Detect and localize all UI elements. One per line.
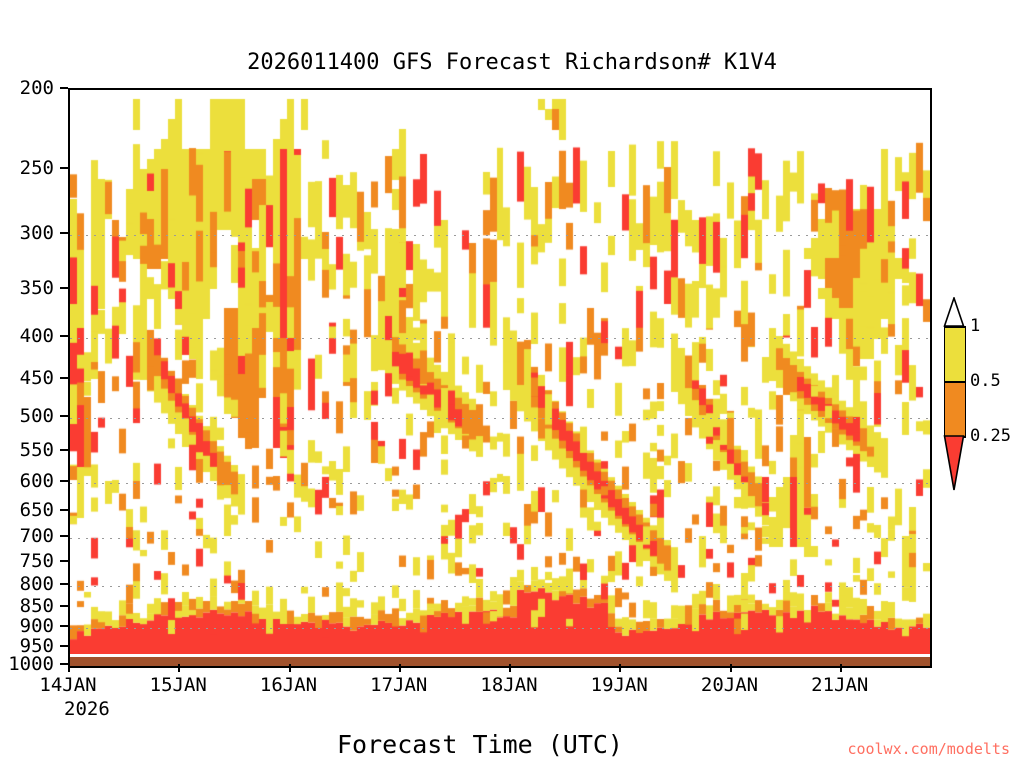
y-tick-mark-500	[60, 415, 68, 417]
y-tick-label-350: 350	[0, 277, 54, 299]
y-tick-label-250: 250	[0, 157, 54, 179]
x-tick-label-20JAN: 20JAN	[685, 674, 775, 696]
x-tick-label-14JAN: 14JAN	[23, 674, 113, 696]
x-tick-label-19JAN: 19JAN	[574, 674, 664, 696]
surface-pressure-line	[70, 654, 930, 657]
y-tick-label-650: 650	[0, 499, 54, 521]
x-tick-mark-16JAN	[289, 664, 291, 672]
x-tick-label-16JAN: 16JAN	[244, 674, 334, 696]
credit-watermark: coolwx.com/modelts	[847, 740, 1010, 758]
x-tick-label-18JAN: 18JAN	[464, 674, 554, 696]
y-tick-mark-850	[60, 605, 68, 607]
x-tick-mark-15JAN	[178, 664, 180, 672]
y-tick-label-550: 550	[0, 439, 54, 461]
y-tick-mark-950	[60, 645, 68, 647]
y-tick-label-450: 450	[0, 367, 54, 389]
x-tick-label-21JAN: 21JAN	[795, 674, 885, 696]
x-axis-year-label: 2026	[64, 698, 110, 720]
x-tick-mark-19JAN	[619, 664, 621, 672]
colorbar-tick-label-1: 1	[970, 316, 980, 336]
colorbar-segment-0.5-1	[944, 326, 966, 381]
heatmap-canvas	[70, 90, 930, 666]
colorbar-divider-0	[944, 326, 966, 328]
y-tick-mark-200	[60, 87, 68, 89]
y-tick-label-600: 600	[0, 470, 54, 492]
x-tick-mark-21JAN	[840, 664, 842, 672]
y-tick-label-300: 300	[0, 222, 54, 244]
colorbar-legend: 10.50.25	[944, 298, 968, 468]
y-tick-mark-800	[60, 583, 68, 585]
x-tick-mark-20JAN	[730, 664, 732, 672]
x-tick-label-17JAN: 17JAN	[354, 674, 444, 696]
chart-title: 2026011400 GFS Forecast Richardson# K1V4	[0, 50, 1024, 75]
gridline-1000	[70, 666, 930, 667]
y-tick-mark-600	[60, 480, 68, 482]
y-tick-label-1000: 1000	[0, 653, 54, 675]
y-tick-label-700: 700	[0, 525, 54, 547]
y-tick-label-850: 850	[0, 595, 54, 617]
chart-page: 2026011400 GFS Forecast Richardson# K1V4…	[0, 0, 1024, 768]
y-tick-mark-450	[60, 377, 68, 379]
x-tick-mark-14JAN	[68, 664, 70, 672]
y-tick-label-400: 400	[0, 325, 54, 347]
y-tick-mark-650	[60, 509, 68, 511]
y-tick-mark-700	[60, 535, 68, 537]
y-tick-label-500: 500	[0, 405, 54, 427]
x-axis-title: Forecast Time (UTC)	[240, 730, 720, 759]
colorbar-divider-1	[944, 381, 966, 383]
y-tick-label-200: 200	[0, 77, 54, 99]
y-tick-mark-550	[60, 449, 68, 451]
y-tick-mark-400	[60, 335, 68, 337]
x-tick-mark-18JAN	[509, 664, 511, 672]
y-tick-mark-900	[60, 625, 68, 627]
y-tick-mark-350	[60, 287, 68, 289]
y-tick-mark-1000	[60, 663, 68, 665]
colorbar-arrow-bottom	[943, 435, 967, 495]
y-tick-label-750: 750	[0, 550, 54, 572]
plot-area	[68, 88, 932, 668]
colorbar-tick-label-0.25: 0.25	[970, 426, 1011, 446]
x-tick-mark-17JAN	[399, 664, 401, 672]
y-tick-mark-750	[60, 560, 68, 562]
x-tick-label-15JAN: 15JAN	[133, 674, 223, 696]
colorbar-tick-label-0.5: 0.5	[970, 371, 1001, 391]
terrain-fill	[70, 657, 930, 666]
colorbar-segment-0.25-0.5	[944, 381, 966, 436]
y-tick-label-800: 800	[0, 573, 54, 595]
y-tick-mark-300	[60, 232, 68, 234]
y-tick-mark-250	[60, 167, 68, 169]
